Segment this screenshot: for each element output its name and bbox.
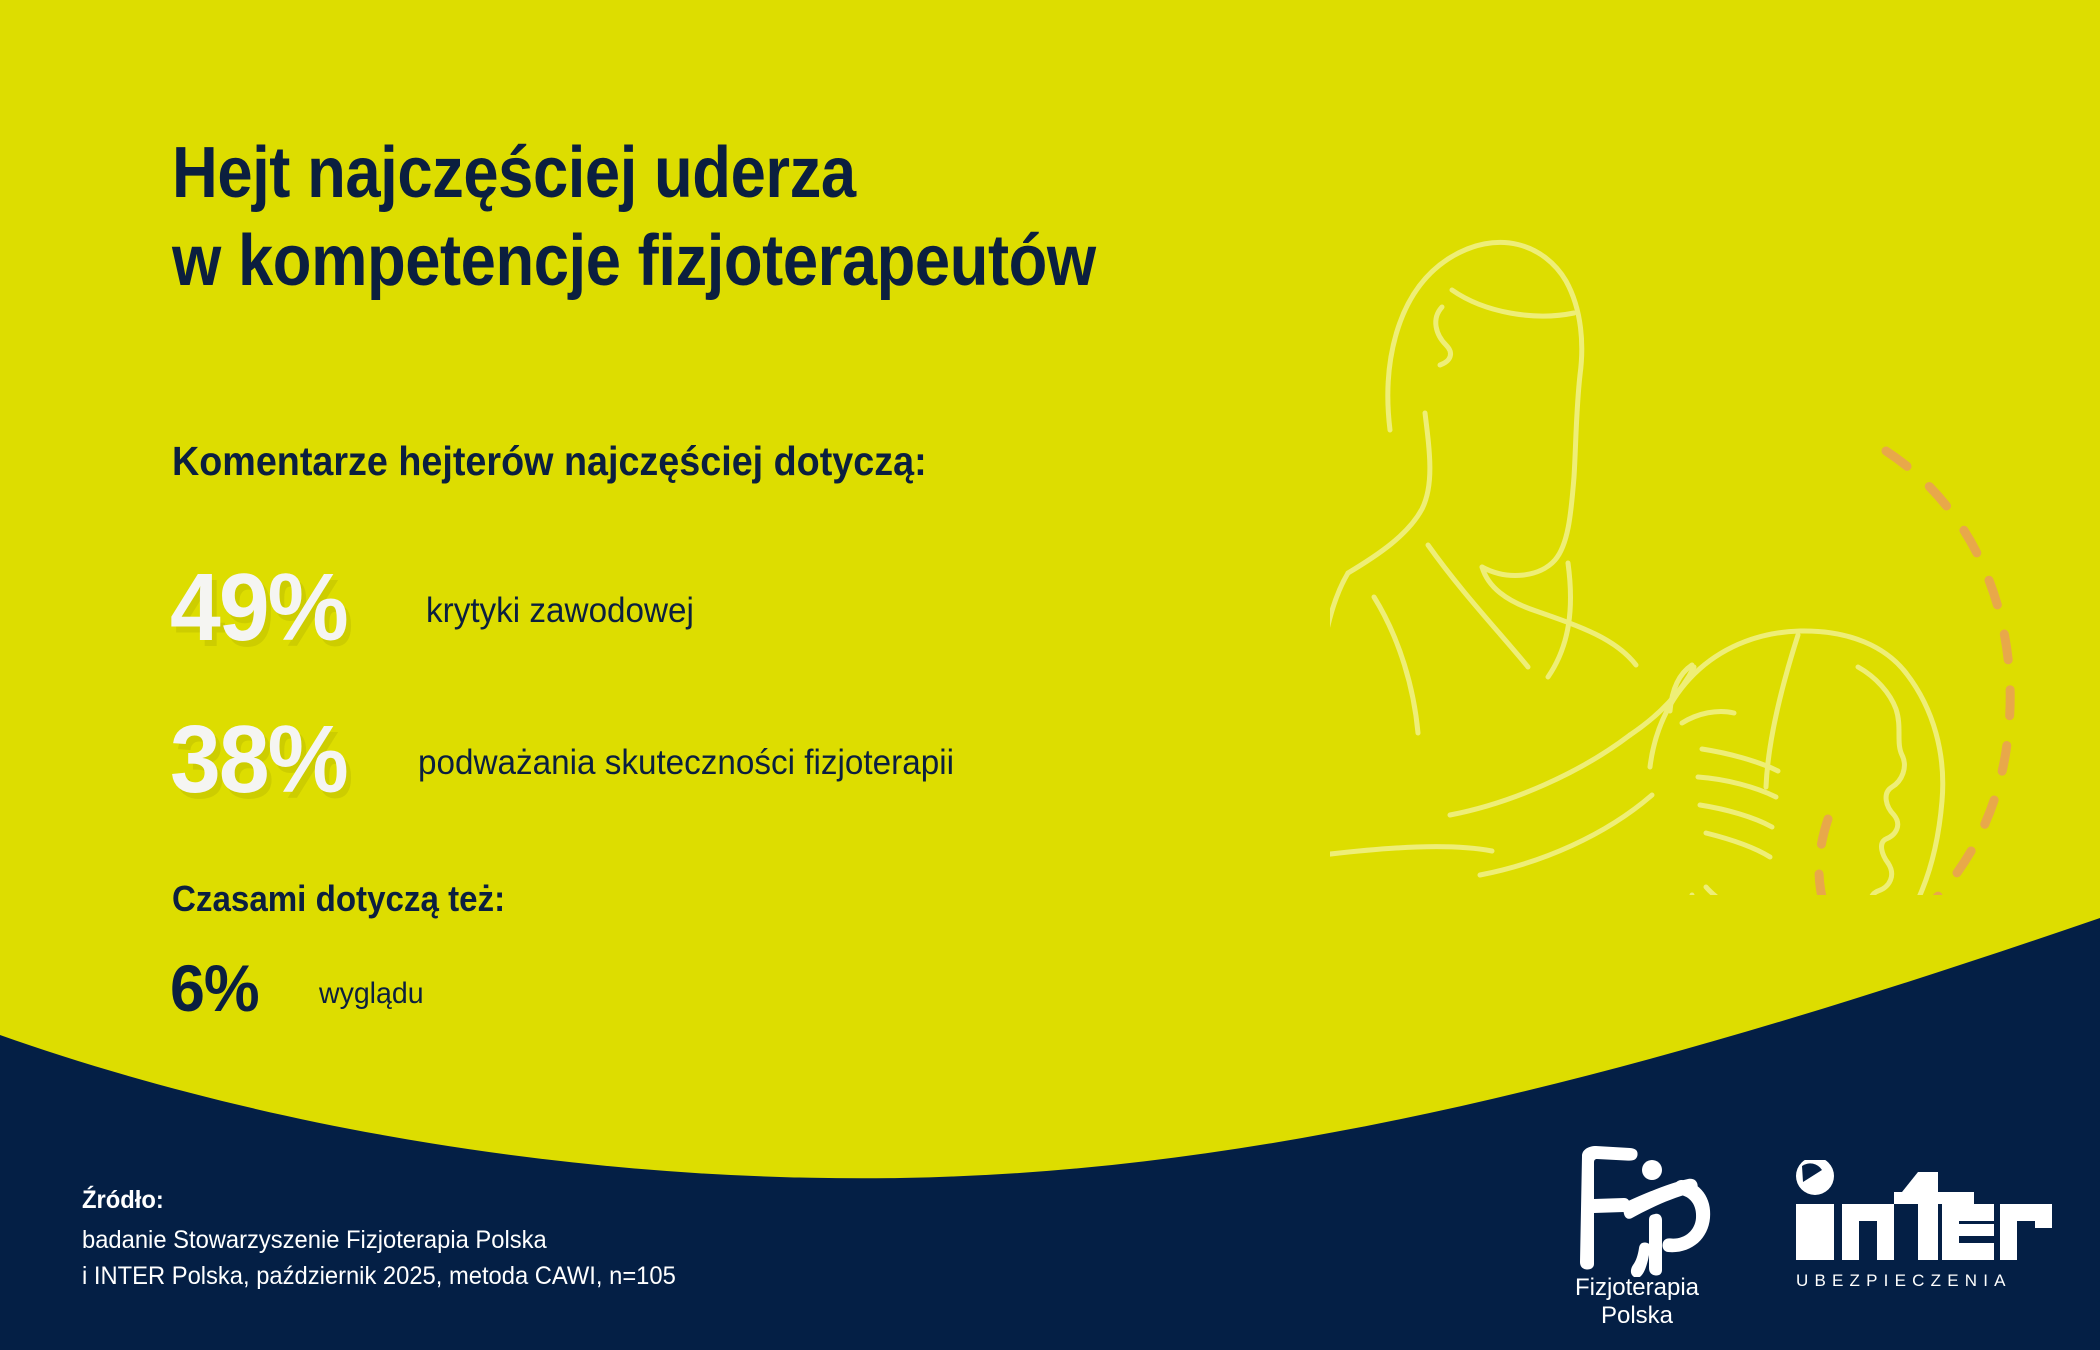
fizjoterapia-polska-logo: Fizjoterapia Polska (1552, 1142, 1722, 1342)
source-body: badanie Stowarzyszenie Fizjoterapia Pols… (82, 1223, 937, 1294)
patient-figure (1650, 631, 1962, 895)
source-title: Źródło: (82, 1186, 937, 1215)
stat-label: wyglądu (319, 977, 424, 1011)
fp-monogram-icon (1552, 1142, 1722, 1277)
therapist-figure (1330, 242, 1694, 887)
fizjoterapia-polska-caption: Fizjoterapia Polska (1552, 1274, 1722, 1329)
subheading-secondary: Czasami dotyczą też: (172, 878, 505, 920)
inter-tagline: UBEZPIECZENIA (1796, 1271, 2012, 1290)
stat-label: krytyki zawodowej (426, 591, 694, 631)
pain-indicator-arc (1819, 451, 2010, 895)
physiotherapy-illustration (1330, 215, 2030, 895)
stat-label: podważania skuteczności fizjoterapii (418, 743, 954, 783)
page-title: Hejt najczęściej uderza w kompetencje fi… (172, 130, 1096, 306)
stat-value: 49% (170, 560, 347, 656)
stat-value: 38% (170, 712, 347, 808)
source-note: Źródło: badanie Stowarzyszenie Fizjotera… (82, 1186, 982, 1294)
inter-ubezpieczenia-logo: UBEZPIECZENIA (1790, 1160, 2065, 1295)
stat-row: 49% krytyki zawodowej (170, 560, 708, 656)
infographic-canvas: Hejt najczęściej uderza w kompetencje fi… (0, 0, 2100, 1350)
stat-row: 6% wyglądu (170, 955, 429, 1021)
stat-row: 38% podważania skuteczności fizjoterapii (170, 712, 982, 808)
stat-value: 6% (170, 955, 259, 1021)
subheading-primary: Komentarze hejterów najczęściej dotyczą: (172, 438, 927, 485)
inter-wordmark-icon (1796, 1160, 2052, 1260)
content-block: Hejt najczęściej uderza w kompetencje fi… (0, 0, 1300, 1060)
